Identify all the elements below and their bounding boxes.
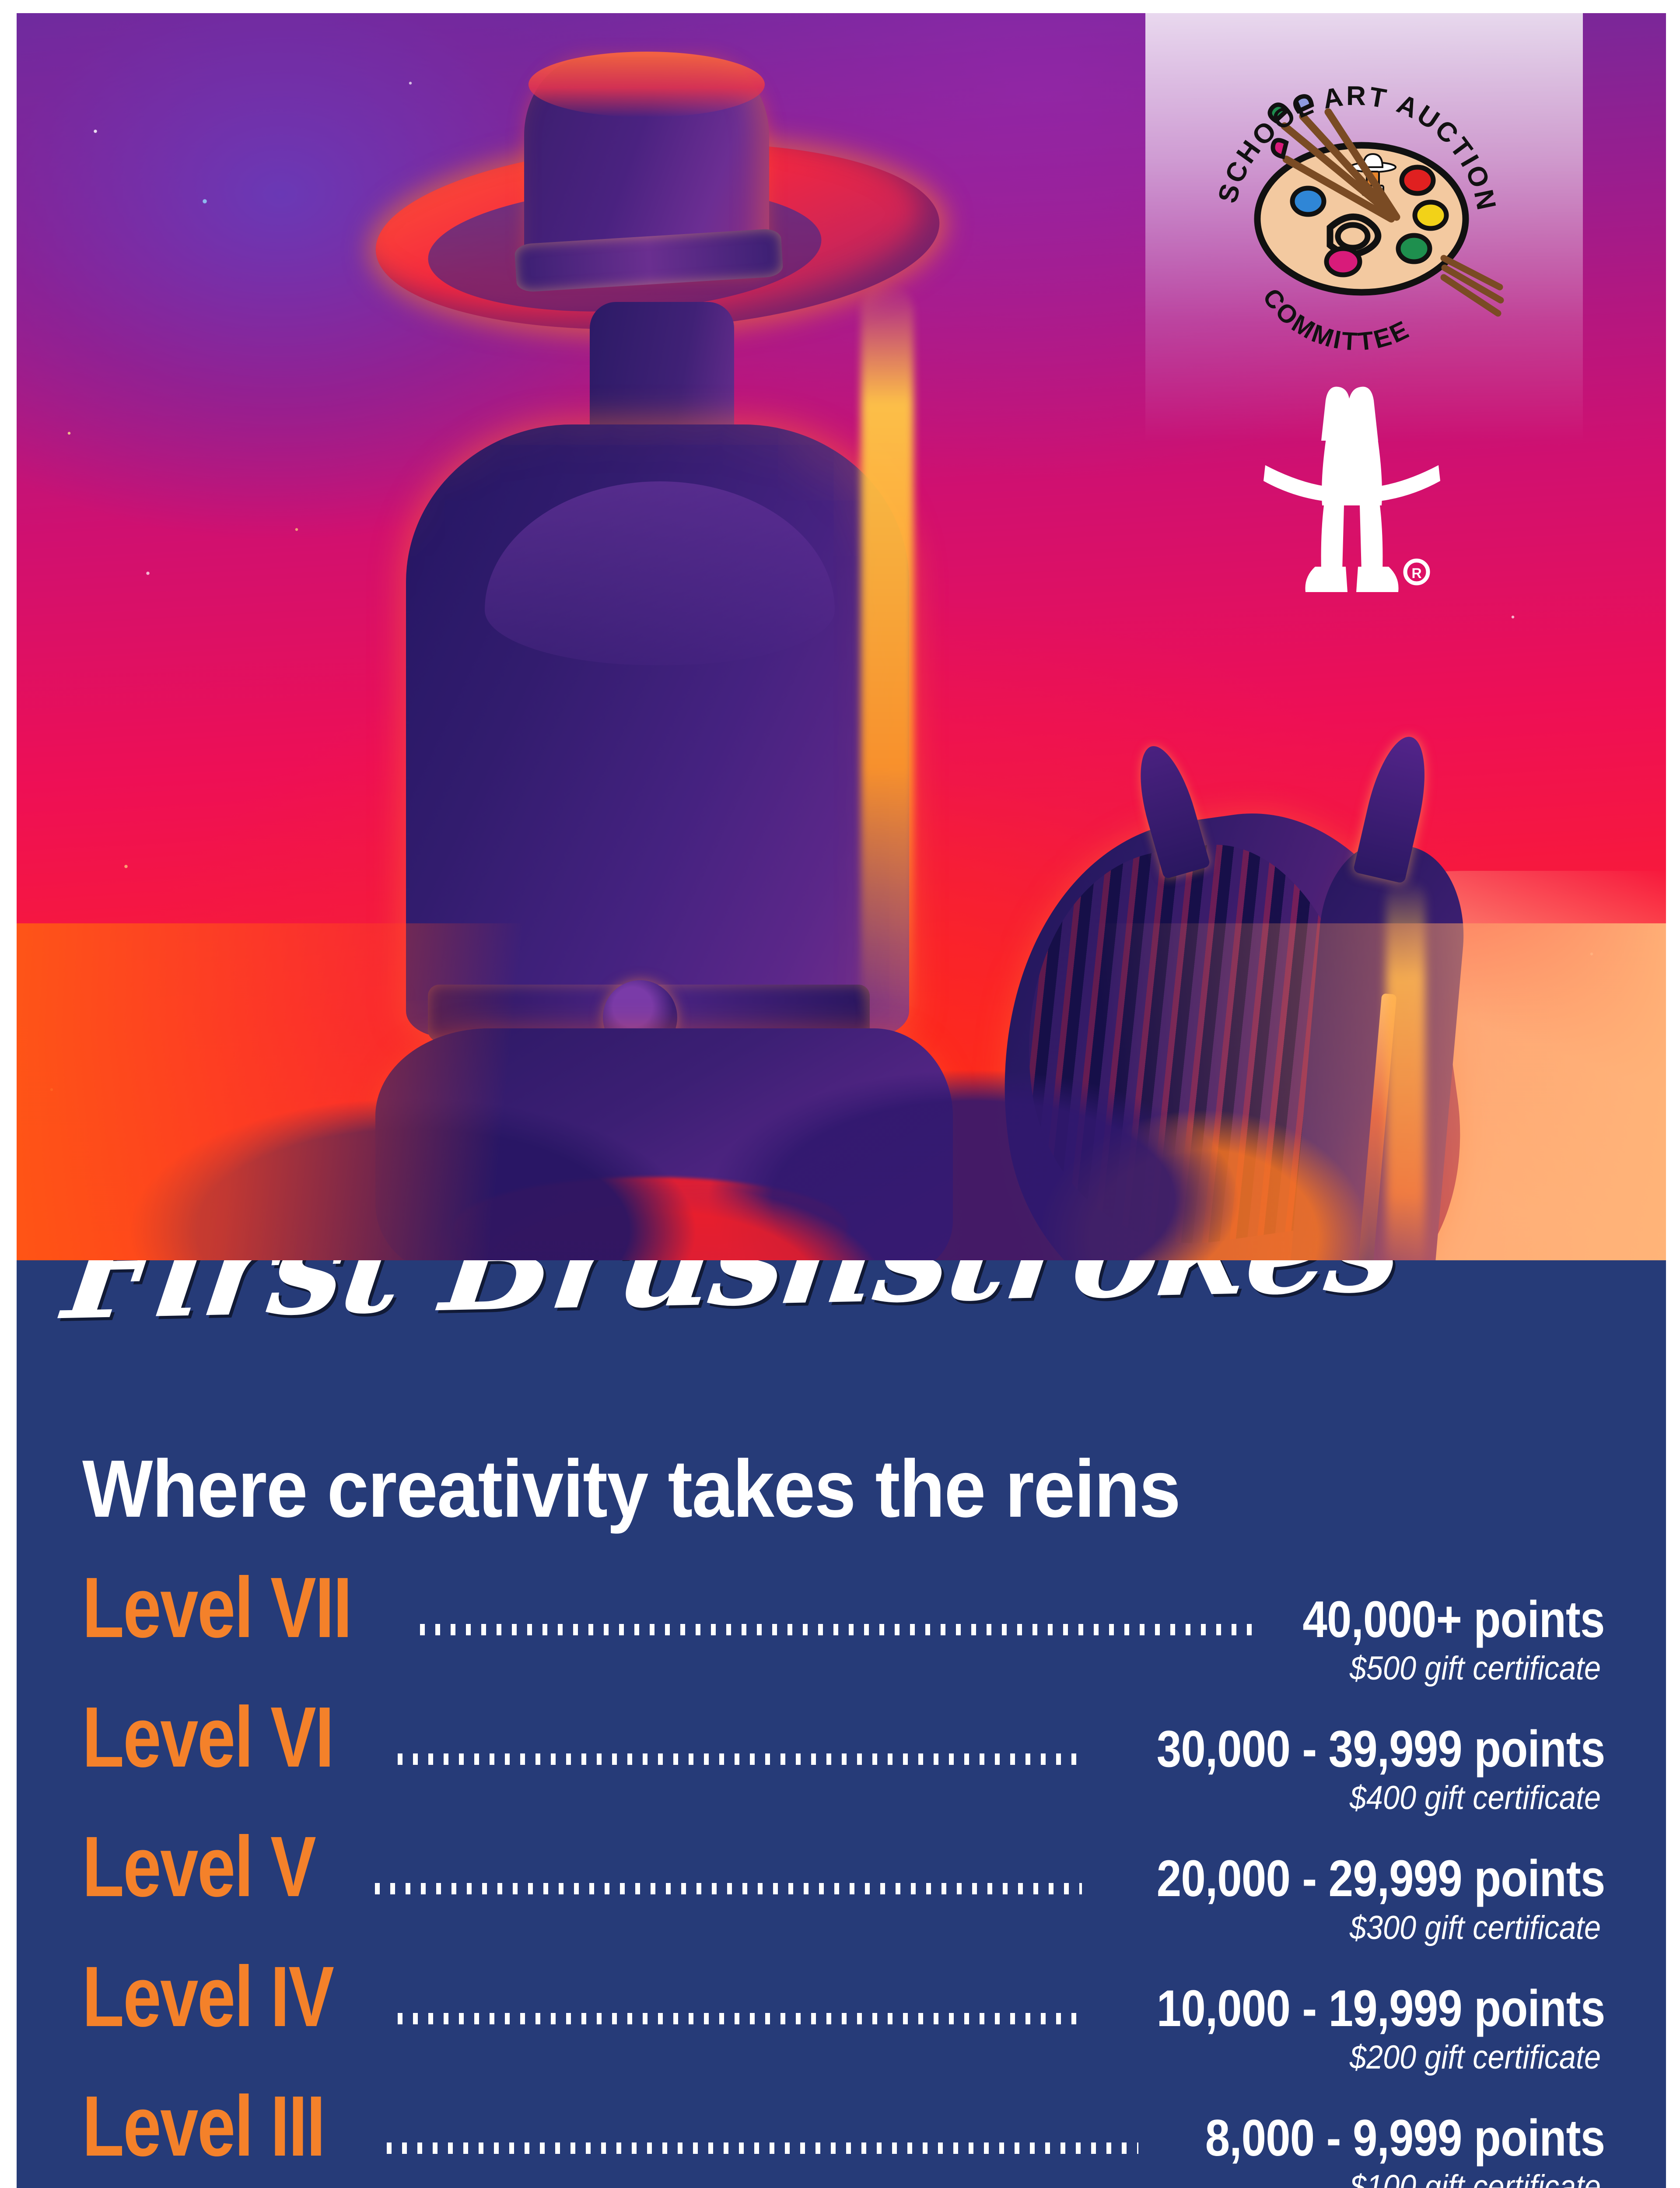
level-prize: $400 gift certificate xyxy=(234,1780,1605,1816)
palette-blob-blue xyxy=(1292,188,1324,214)
level-name: Level VI xyxy=(82,1696,333,1778)
level-name: Level V xyxy=(82,1826,315,1908)
level-row: Level VII 40,000+ points $500 gift certi… xyxy=(82,1567,1605,1687)
seal-bottom-arc-text: COMMITTEE xyxy=(1257,283,1414,356)
level-name: Level VII xyxy=(82,1567,351,1649)
level-prize: $500 gift certificate xyxy=(234,1651,1605,1687)
level-row: Level III 8,000 - 9,999 points $100 gift… xyxy=(82,2085,1605,2188)
level-name: Level IV xyxy=(82,1956,333,2038)
registered-trademark-icon: R xyxy=(1411,565,1421,581)
level-prize: $300 gift certificate xyxy=(234,1910,1605,1946)
longhorn-h-mascot-logo: R xyxy=(1260,374,1444,602)
horse-figure xyxy=(1001,661,1635,1308)
school-art-auction-committee-logo: SCHOOL ART AUCTION COMMITTEE xyxy=(1199,53,1505,359)
palette-blob-red xyxy=(1402,167,1433,193)
level-row: Level VI 30,000 - 39,999 points $400 gif… xyxy=(82,1696,1605,1816)
cowboy-hat-crown-highlight xyxy=(528,52,765,117)
dot-leader xyxy=(398,2009,1082,2026)
dot-leader xyxy=(420,1620,1252,1637)
dot-leader xyxy=(375,1879,1081,1896)
level-points: 10,000 - 19,999 points xyxy=(1156,1983,1605,2034)
level-prize: $200 gift certificate xyxy=(234,2040,1605,2076)
palette-blob-magenta xyxy=(1326,249,1360,275)
levels-list: Level VII 40,000+ points $500 gift certi… xyxy=(82,1567,1605,2188)
level-points: 30,000 - 39,999 points xyxy=(1156,1723,1605,1775)
dot-leader xyxy=(398,1749,1082,1767)
level-points: 8,000 - 9,999 points xyxy=(1205,2112,1605,2164)
rider-rim-light xyxy=(861,284,913,1028)
dot-leader xyxy=(387,2138,1138,2156)
poster-root: SCHOOL ART AUCTION COMMITTEE xyxy=(0,0,1680,2188)
level-points: 20,000 - 29,999 points xyxy=(1156,1853,1605,1904)
level-row: Level IV 10,000 - 19,999 points $200 gif… xyxy=(82,1956,1605,2076)
palette-blob-green xyxy=(1398,235,1430,262)
level-prize: $100 gift certificate xyxy=(234,2169,1605,2188)
level-name: Level III xyxy=(82,2085,325,2167)
level-points: 40,000+ points xyxy=(1303,1594,1605,1645)
levels-panel: First Brushstrokes Where creativity take… xyxy=(17,1260,1666,2188)
page-subtitle: Where creativity takes the reins xyxy=(82,1448,1491,1530)
horse-rim-light xyxy=(1386,880,1425,1273)
palette-blob-yellow xyxy=(1415,202,1446,228)
page-title: First Brushstrokes xyxy=(58,1260,1629,1338)
level-row: Level V 20,000 - 29,999 points $300 gift… xyxy=(82,1826,1605,1946)
